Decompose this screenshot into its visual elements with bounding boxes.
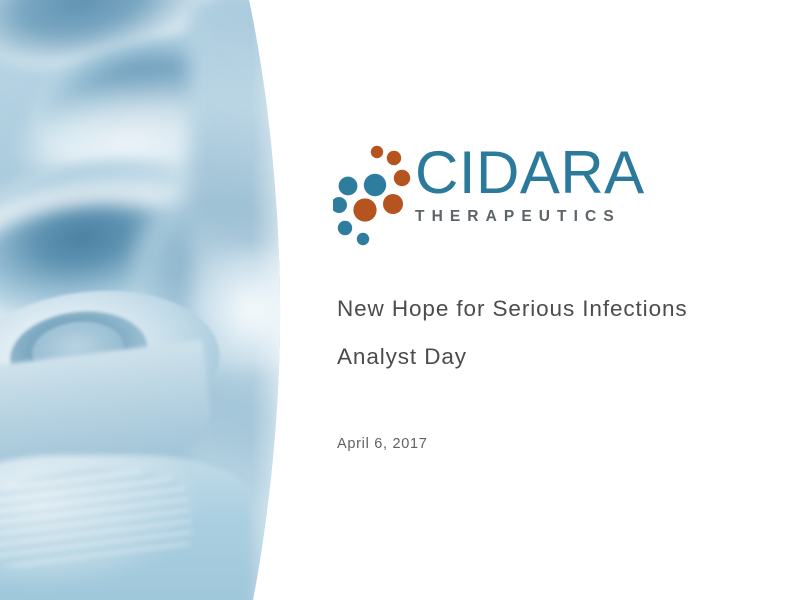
logo-dot	[353, 198, 376, 221]
logo-dot-cluster-icon	[333, 138, 415, 250]
cidara-logo: CIDARA THERAPEUTICS	[333, 138, 633, 250]
logo-dot	[383, 194, 403, 214]
logo-dot	[333, 197, 347, 213]
logo-dot	[364, 174, 386, 196]
photo-edge-fade	[252, 0, 290, 600]
presentation-slide: CIDARA THERAPEUTICS New Hope for Serious…	[0, 0, 800, 600]
vial-photo-panel	[0, 0, 290, 600]
slide-title-primary: New Hope for Serious Infections	[337, 296, 777, 322]
slide-title-block: New Hope for Serious Infections Analyst …	[337, 296, 777, 370]
slide-title-secondary: Analyst Day	[337, 344, 777, 370]
logo-dot	[394, 170, 410, 186]
slide-content: CIDARA THERAPEUTICS New Hope for Serious…	[333, 0, 783, 600]
logo-wordmark-block: CIDARA THERAPEUTICS	[415, 144, 631, 226]
logo-dot	[371, 146, 383, 158]
slide-date: April 6, 2017	[337, 436, 428, 452]
logo-dot	[387, 151, 401, 165]
logo-dot	[339, 177, 358, 196]
logo-tagline: THERAPEUTICS	[415, 208, 631, 226]
logo-dot	[357, 233, 369, 245]
logo-company-name: CIDARA	[415, 144, 631, 201]
logo-dot	[338, 221, 352, 235]
